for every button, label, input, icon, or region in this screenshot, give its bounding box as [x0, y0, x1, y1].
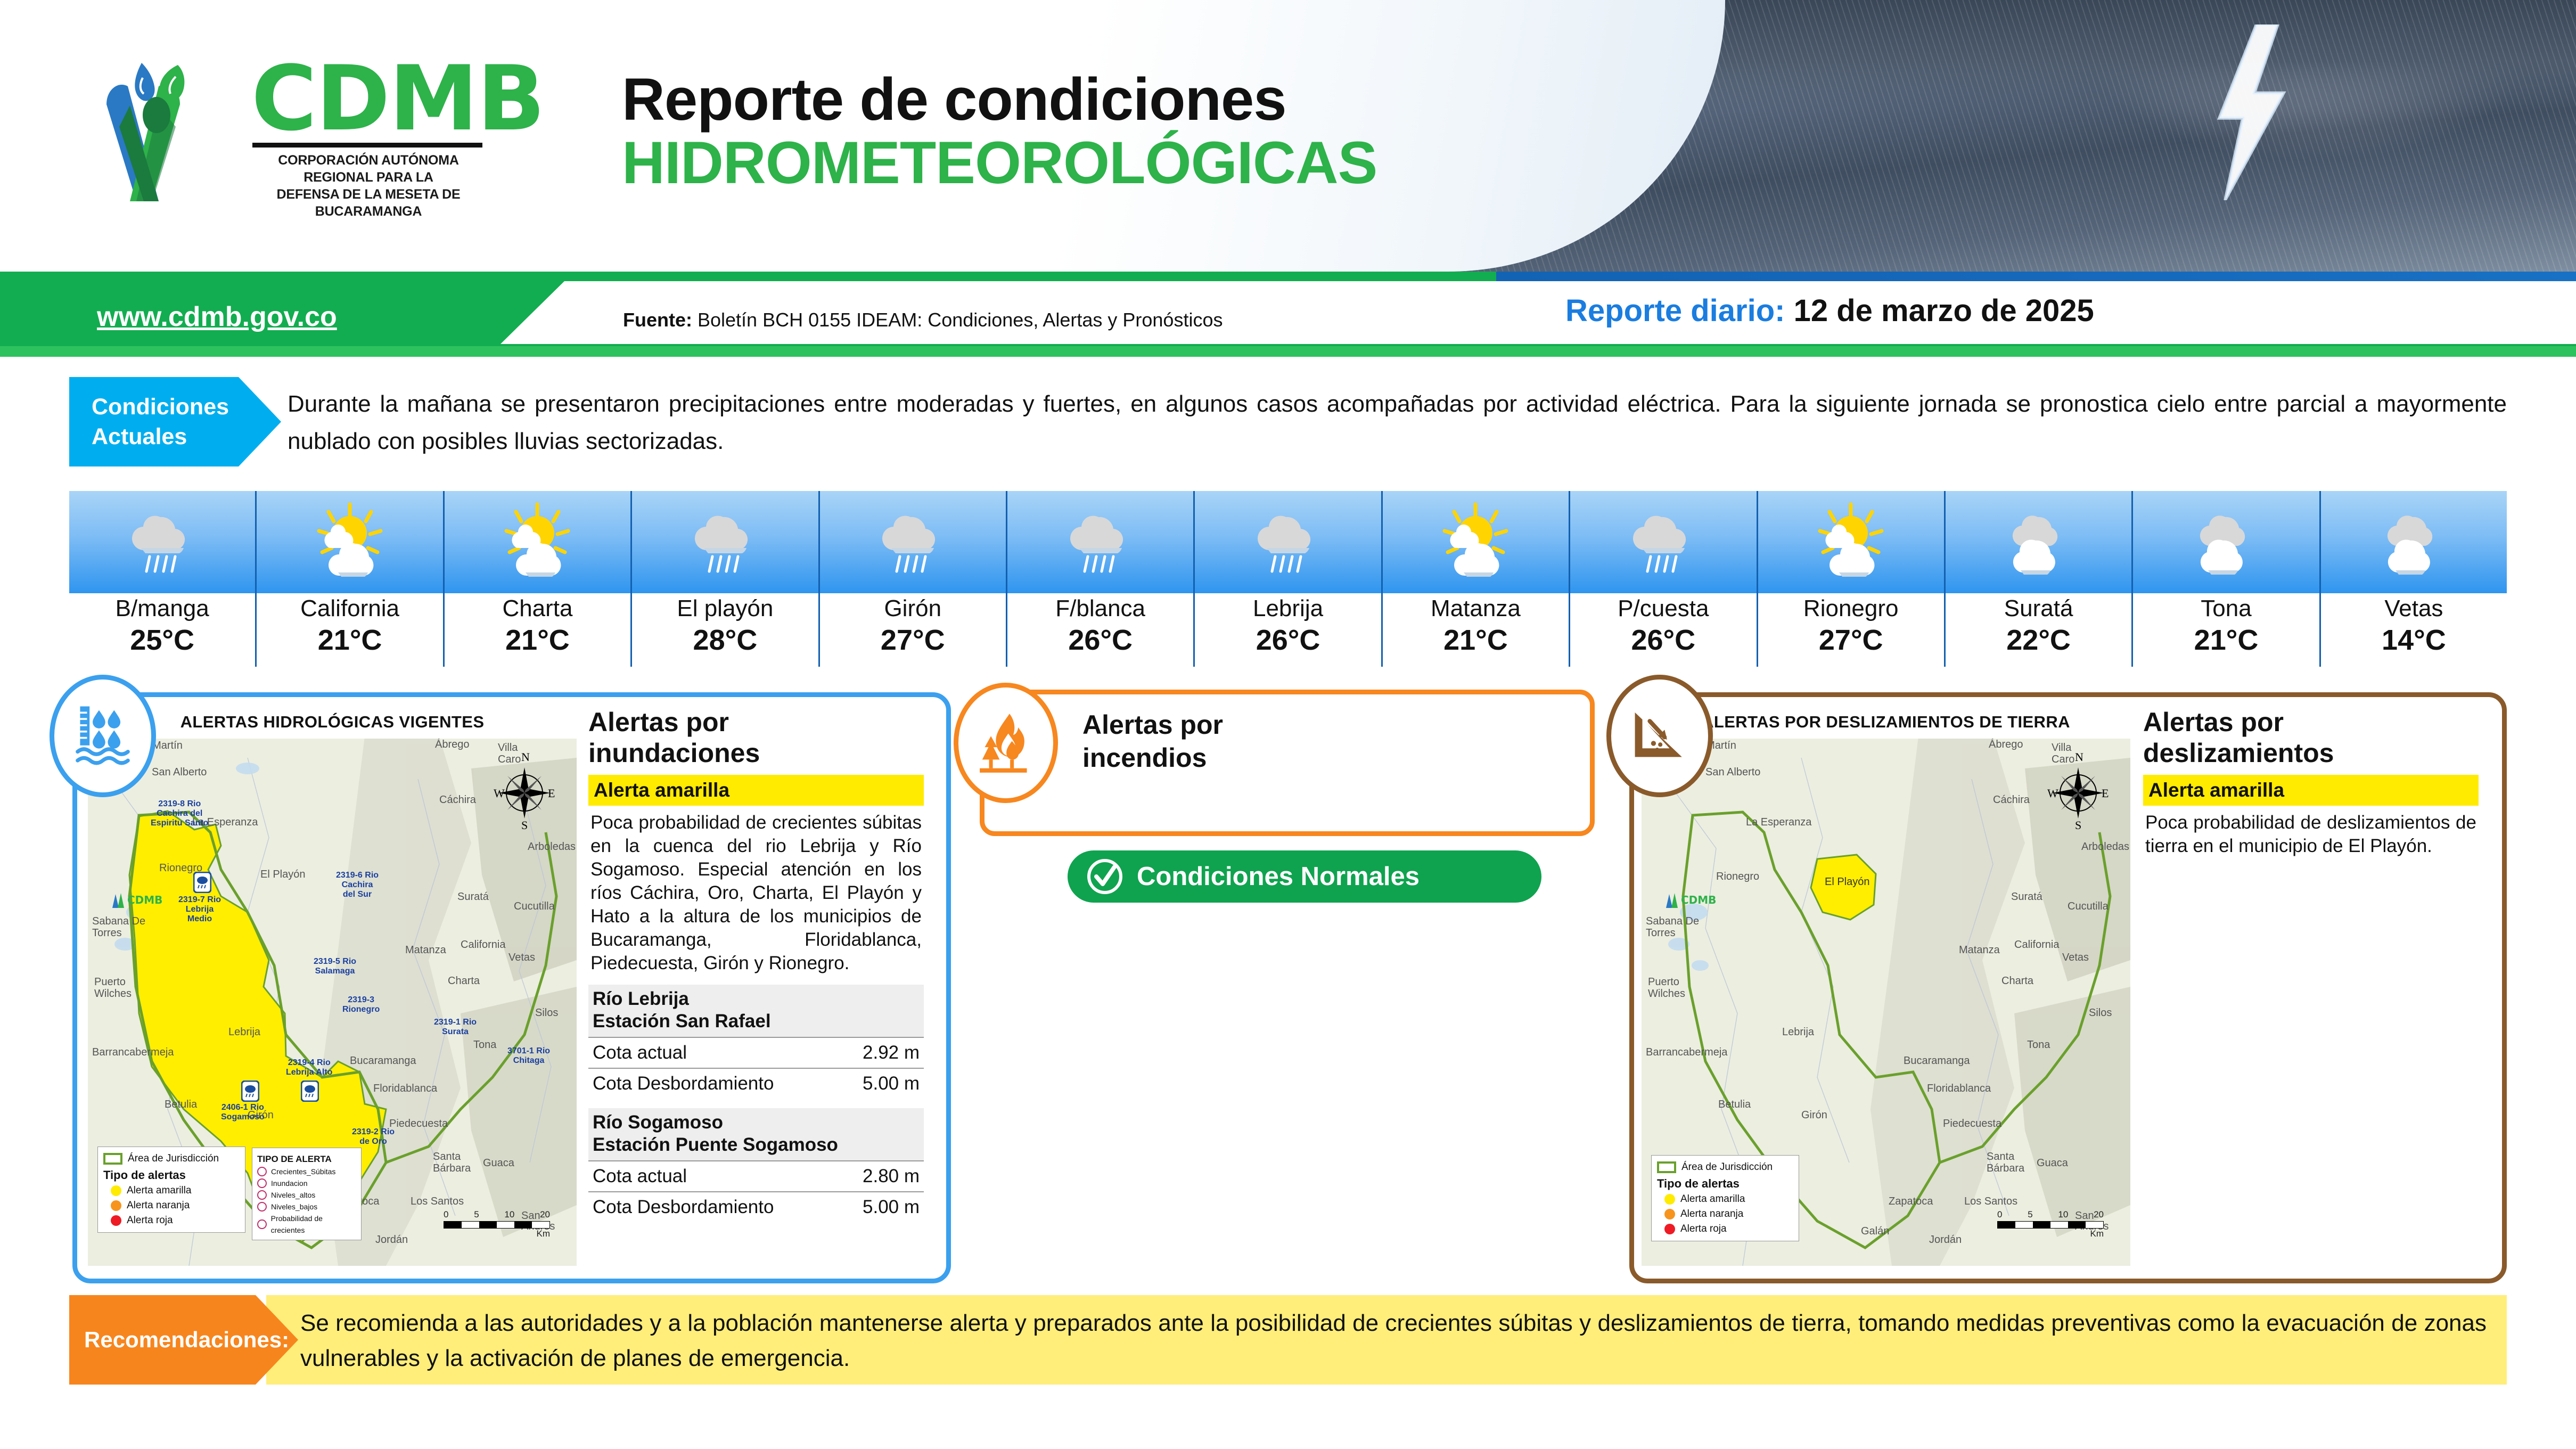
forecast-city-name: B/manga — [69, 594, 255, 623]
flood-alerts-panel: ALERTAS HIDROLÓGICAS VIGENTES — [72, 692, 951, 1283]
svg-text:CDMB: CDMB — [127, 894, 162, 906]
legend2-item: Crecientes_Súbitas — [271, 1166, 335, 1177]
map-label-place: Barrancabermeja — [92, 1046, 174, 1059]
forecast-city-cell: Vetas 14°C — [2321, 491, 2507, 667]
forecast-city-cell: P/cuesta 26°C — [1570, 491, 1758, 667]
current-conditions-tag: Condiciones Actuales — [69, 377, 281, 466]
forecast-sky — [1383, 491, 1569, 593]
legend2-item: Inundacion — [271, 1177, 308, 1189]
map-label-place: Charta — [448, 975, 480, 987]
rain-station-marker-icon — [241, 1080, 259, 1102]
current-conditions-tag-line2: Actuales — [92, 422, 281, 452]
map-label-place: SantaBárbara — [433, 1151, 471, 1174]
map-label-place: Matanza — [405, 944, 446, 956]
forecast-city-name: Charta — [445, 594, 630, 623]
station-row: Cota actual 2.80 m — [588, 1160, 924, 1191]
forecast-city-cell: California 21°C — [257, 491, 444, 667]
forecast-temperature: 21°C — [1383, 623, 1569, 657]
forecast-city-name: Matanza — [1383, 594, 1569, 623]
forecast-sky — [445, 491, 630, 593]
report-date-label: Reporte diario: — [1565, 293, 1785, 328]
forecast-label: Lebrija 26°C — [1195, 593, 1381, 667]
map-label-place: SantaBárbara — [1987, 1151, 2024, 1174]
cdmb-map-watermark-icon: CDMB — [1663, 889, 1720, 911]
legend-type-label: Alerta roja — [127, 1213, 173, 1228]
landslide-map-legend: Área de Jurisdicción Tipo de alertas Ale… — [1651, 1155, 1799, 1241]
forecast-city-cell: Matanza 21°C — [1383, 491, 1570, 667]
forest-fire-icon — [974, 709, 1037, 777]
map-label-place: Arboledas — [2081, 841, 2129, 853]
fire-alert-title-line1: Alertas por — [1082, 708, 1223, 741]
station-row-value: 2.92 m — [863, 1038, 920, 1068]
scale-tick: 0 — [1997, 1209, 2002, 1220]
forecast-city-cell: B/manga 25°C — [69, 491, 257, 667]
current-conditions-section: Condiciones Actuales Durante la mañana s… — [69, 377, 2507, 466]
forecast-label: P/cuesta 26°C — [1570, 593, 1756, 667]
forecast-city-cell: Suratá 22°C — [1946, 491, 2133, 667]
map-label-river: 2319-7 RioLebrijaMedio — [178, 895, 221, 924]
map-label-place: Zapatoca — [1889, 1196, 1933, 1208]
recommendations-text: Se recomienda a las autoridades y a la p… — [300, 1306, 2487, 1376]
forecast-city-name: California — [257, 594, 442, 623]
forecast-sky — [2321, 491, 2507, 593]
alert-type-icon — [257, 1219, 267, 1229]
legend-dot-red — [111, 1215, 121, 1226]
landslide-alert-title: Alertas por deslizamientos — [2143, 707, 2479, 768]
flood-badge — [50, 675, 156, 797]
source-label: Fuente: — [623, 309, 692, 331]
svg-text:N: N — [521, 751, 530, 764]
map-label-place: Guaca — [2037, 1157, 2068, 1169]
landslide-alert-level-badge: Alerta amarilla — [2143, 775, 2479, 806]
forecast-temperature: 27°C — [1758, 623, 1944, 657]
map-label-place: Piedecuesta — [389, 1118, 448, 1130]
svg-text:S: S — [2075, 818, 2081, 831]
logo-wordmark: CDMB CORPORACIÓN AUTÓNOMA REGIONAL PARA … — [251, 59, 544, 220]
legend-dot-yellow — [111, 1185, 121, 1196]
report-date-block: Reporte diario: 12 de marzo de 2025 — [1565, 293, 2094, 329]
map-label-place: Girón — [1801, 1109, 1827, 1121]
landslide-alerts-panel: ALERTAS POR DESLIZAMIENTOS DE TIERRA — [1629, 692, 2507, 1283]
forecast-city-cell: Girón 27°C — [820, 491, 1007, 667]
legend-jurisdiction-label: Área de Jurisdicción — [1681, 1160, 1773, 1175]
map-label-place: Silos — [535, 1007, 558, 1019]
alert-type-icon — [257, 1167, 267, 1176]
station-name: Estación San Rafael — [593, 1010, 920, 1033]
forecast-temperature: 26°C — [1195, 623, 1381, 657]
forecast-city-name: Lebrija — [1195, 594, 1381, 623]
jurisdiction-swatch — [1657, 1161, 1676, 1173]
scale-tick: 10 — [2058, 1209, 2068, 1220]
forecast-city-cell: Tona 21°C — [2133, 491, 2320, 667]
map-label-place: Arboledas — [528, 841, 576, 853]
cdmb-logo-icon — [79, 47, 244, 207]
report-date-value: 12 de marzo de 2025 — [1785, 293, 2094, 328]
flood-alert-level-badge: Alerta amarilla — [588, 775, 924, 806]
compass-rose-icon: N S W E — [2046, 751, 2110, 831]
forecast-label: El playón 28°C — [632, 593, 818, 667]
legend-type-label: Alerta amarilla — [1680, 1192, 1745, 1207]
forecast-sky — [69, 491, 255, 593]
map-label-place: El Playón — [260, 869, 306, 881]
forecast-temperature: 21°C — [257, 623, 442, 657]
flood-map-canvas: San Martín San Alberto Ábrego VillaCaro … — [88, 736, 577, 1266]
forecast-temperature: 26°C — [1007, 623, 1193, 657]
cloud-icon — [2184, 502, 2269, 582]
scale-tick: 5 — [474, 1209, 479, 1220]
landslide-alert-description: Poca probabilidad de deslizamientos de t… — [2143, 806, 2479, 858]
title-line-1: Reporte de condiciones — [622, 68, 1377, 131]
alert-type-icon — [257, 1202, 267, 1211]
landslide-badge — [1606, 675, 1713, 797]
map-label-place: Floridablanca — [1927, 1083, 1991, 1095]
map-label-place: Lebrija — [1782, 1026, 1814, 1038]
forecast-temperature: 22°C — [1946, 623, 2131, 657]
map-label-place: Matanza — [1959, 944, 2000, 956]
map-label-place: Vetas — [508, 952, 535, 964]
map-label-place: Ábrego — [1989, 739, 2023, 751]
flood-map-legend: Área de Jurisdicción Tipo de alertas Ale… — [97, 1147, 245, 1233]
flood-alert-text-column: Alertas por inundaciones Alerta amarilla… — [588, 707, 924, 1222]
forecast-label: Rionegro 27°C — [1758, 593, 1944, 667]
map-label-place: Rionegro — [1716, 871, 1759, 883]
rain-station-marker-icon — [301, 1080, 319, 1102]
map-label-place: Sabana DeTorres — [1646, 915, 1699, 939]
map-label-place: Jordán — [1929, 1234, 1962, 1246]
flood-alert-description: Poca probabilidad de crecientes súbitas … — [588, 806, 924, 975]
map-label-place: La Esperanza — [1746, 816, 1811, 829]
flood-map-title: ALERTAS HIDROLÓGICAS VIGENTES — [88, 706, 577, 739]
map-label-place: San Alberto — [1705, 766, 1760, 779]
station-header: Río Lebrija Estación San Rafael — [588, 985, 924, 1037]
map-label-place: Charta — [2001, 975, 2033, 987]
forecast-sky — [1570, 491, 1756, 593]
landslide-map-title: ALERTAS POR DESLIZAMIENTOS DE TIERRA — [1642, 706, 2130, 739]
forecast-temperature: 26°C — [1570, 623, 1756, 657]
fire-badge — [954, 683, 1058, 803]
cdmb-map-watermark-icon: CDMB — [109, 889, 167, 911]
station-row: Cota Desbordamiento 5.00 m — [588, 1068, 924, 1099]
map-label-river: 2319-2 Riode Oro — [352, 1127, 395, 1147]
station-header: Río Sogamoso Estación Puente Sogamoso — [588, 1108, 924, 1160]
forecast-label: California 21°C — [257, 593, 442, 667]
map-label-river: 2406-1 RioSogamoso — [221, 1103, 265, 1122]
flood-map-scalebar: 0 5 10 20 Km — [444, 1209, 550, 1239]
website-link[interactable]: www.cdmb.gov.co — [97, 301, 337, 333]
station-row: Cota actual 2.92 m — [588, 1037, 924, 1068]
landslide-alerts-map[interactable]: ALERTAS POR DESLIZAMIENTOS DE TIERRA — [1642, 706, 2130, 1266]
svg-text:E: E — [548, 787, 555, 800]
forecast-label: Matanza 21°C — [1383, 593, 1569, 667]
forecast-temperature: 27°C — [820, 623, 1006, 657]
legend-dot-yellow — [1664, 1194, 1675, 1205]
map-label-place: Cucutilla — [514, 900, 555, 913]
map-label-place: Barrancabermeja — [1646, 1046, 1727, 1059]
forecast-label: F/blanca 26°C — [1007, 593, 1193, 667]
current-conditions-text: Durante la mañana se presentaron precipi… — [288, 382, 2507, 462]
map-label-river: 2319-1 RioSurata — [434, 1018, 477, 1037]
scale-tick: 20 — [2094, 1209, 2104, 1220]
scale-unit: Km — [1997, 1229, 2104, 1239]
map-label-place: Floridablanca — [373, 1083, 437, 1095]
legend2-item: Niveles_bajos — [271, 1201, 317, 1213]
flood-alert-title-line1: Alertas por — [588, 707, 924, 738]
landslide-alert-title-line1: Alertas por — [2143, 707, 2479, 738]
map-label-place: Cucutilla — [2068, 900, 2109, 913]
map-label-place: Bucaramanga — [1904, 1055, 1970, 1067]
forecast-strip: B/manga 25°C California 21°C — [69, 491, 2507, 667]
station-river-name: Río Lebrija — [593, 988, 920, 1010]
forecast-city-cell: Lebrija 26°C — [1195, 491, 1382, 667]
scale-tick: 20 — [540, 1209, 550, 1220]
station-name: Estación Puente Sogamoso — [593, 1134, 920, 1156]
recommendations-tag: Recomendaciones: — [69, 1295, 298, 1385]
station-row-value: 2.80 m — [863, 1161, 920, 1191]
map-label-place: Suratá — [2011, 891, 2042, 903]
forecast-city-name: Girón — [820, 594, 1006, 623]
sun-cloud-icon — [307, 502, 392, 582]
landslide-alert-title-line2: deslizamientos — [2143, 738, 2479, 768]
alert-type-icon — [257, 1178, 267, 1188]
map-label-place: California — [461, 939, 505, 951]
map-label-place: Cáchira — [1993, 794, 2030, 806]
current-conditions-tag-line1: Condiciones — [92, 392, 281, 422]
map-label-place: Betulia — [165, 1099, 197, 1111]
source-note: Fuente: Boletín BCH 0155 IDEAM: Condicio… — [623, 309, 1223, 331]
landslide-map-scalebar: 0 5 10 20 Km — [1997, 1209, 2104, 1239]
map-label-place: Tona — [2027, 1039, 2050, 1051]
compass-rose-icon: N S W E — [493, 751, 556, 831]
sun-cloud-icon — [1808, 502, 1893, 582]
map-label-place: Betulia — [1718, 1099, 1751, 1111]
forecast-sky — [1946, 491, 2131, 593]
map-label-river: 2319-6 RioCachiradel Sur — [336, 871, 379, 899]
landslide-alert-text-column: Alertas por deslizamientos Alerta amaril… — [2143, 707, 2479, 858]
forecast-temperature: 14°C — [2321, 623, 2507, 657]
cloud-icon — [1996, 502, 2081, 582]
map-label-place: Ábrego — [435, 739, 470, 751]
forecast-city-name: Rionegro — [1758, 594, 1944, 623]
fire-alerts-panel: Alertas por incendios Condiciones Normal… — [980, 690, 1595, 836]
forecast-temperature: 28°C — [632, 623, 818, 657]
page-title: Reporte de condiciones HIDROMETEOROLÓGIC… — [622, 68, 1377, 195]
water-level-gauge-icon — [71, 701, 135, 771]
legend-types-header: Tipo de alertas — [103, 1168, 240, 1182]
map-label-place: Vetas — [2062, 952, 2089, 964]
rain-cloud-icon — [120, 502, 205, 582]
forecast-temperature: 21°C — [445, 623, 630, 657]
map-label-river: 3701-1 RioChitaga — [507, 1046, 550, 1066]
ribbon-bottom-line — [0, 346, 2576, 357]
forecast-city-cell: Rionegro 27°C — [1758, 491, 1946, 667]
map-label-place: California — [2014, 939, 2059, 951]
rain-cloud-icon — [683, 502, 768, 582]
scale-tick: 5 — [2028, 1209, 2032, 1220]
rain-cloud-icon — [1245, 502, 1331, 582]
map-label-place: Piedecuesta — [1943, 1118, 2001, 1130]
logo-subtitle-line2: DEFENSA DE LA MESETA DE BUCARAMANGA — [251, 186, 486, 220]
forecast-label: Vetas 14°C — [2321, 593, 2507, 667]
map-label-place: Guaca — [483, 1157, 514, 1169]
forecast-sky — [1195, 491, 1381, 593]
map-label-place: Silos — [2089, 1007, 2112, 1019]
landslide-map-canvas: San Martín San Alberto Ábrego VillaCaro … — [1642, 736, 2130, 1266]
forecast-city-name: Tona — [2133, 594, 2319, 623]
forecast-city-name: Suratá — [1946, 594, 2131, 623]
forecast-label: Suratá 22°C — [1946, 593, 2131, 667]
station-block-lebrija: Río Lebrija Estación San Rafael Cota act… — [588, 985, 924, 1099]
legend-dot-orange — [1664, 1209, 1675, 1219]
legend2-header: TIPO DE ALERTA — [257, 1154, 356, 1165]
map-label-river: 2319-4 RioLebrija Alto — [286, 1058, 332, 1077]
sun-cloud-icon — [495, 502, 580, 582]
map-label-river: 2319-3Rionegro — [342, 995, 380, 1014]
forecast-city-cell: Charta 21°C — [445, 491, 632, 667]
forecast-temperature: 21°C — [2133, 623, 2319, 657]
station-row-label: Cota actual — [593, 1161, 687, 1191]
map-label-place: Bucaramanga — [350, 1055, 416, 1067]
map-label-place: Suratá — [457, 891, 489, 903]
rain-cloud-icon — [1621, 502, 1706, 582]
forecast-city-name: P/cuesta — [1570, 594, 1756, 623]
legend-dot-red — [1664, 1224, 1675, 1234]
forecast-temperature: 25°C — [69, 623, 255, 657]
map-label-place: Lebrija — [228, 1026, 260, 1038]
page-header: CDMB CORPORACIÓN AUTÓNOMA REGIONAL PARA … — [0, 0, 2576, 272]
map-label-place: Tona — [473, 1039, 496, 1051]
map-label-place: Jordán — [375, 1234, 408, 1246]
forecast-city-name: Vetas — [2321, 594, 2507, 623]
flood-alert-title-line2: inundaciones — [588, 738, 924, 768]
jurisdiction-swatch — [103, 1153, 122, 1165]
forecast-sky — [1007, 491, 1193, 593]
rain-station-marker-icon — [193, 872, 211, 893]
hydrological-alerts-map[interactable]: ALERTAS HIDROLÓGICAS VIGENTES — [88, 706, 577, 1266]
flood-alert-title: Alertas por inundaciones — [588, 707, 924, 768]
legend-dot-orange — [111, 1200, 121, 1211]
map-label-place: San Alberto — [152, 766, 207, 779]
svg-text:CDMB: CDMB — [1681, 894, 1716, 906]
rain-cloud-icon — [870, 502, 955, 582]
legend-jurisdiction-label: Área de Jurisdicción — [128, 1151, 219, 1166]
legend-types-header: Tipo de alertas — [1657, 1177, 1793, 1191]
forecast-sky — [2133, 491, 2319, 593]
forecast-sky — [1758, 491, 1944, 593]
svg-text:N: N — [2075, 751, 2083, 764]
station-row-value: 5.00 m — [863, 1069, 920, 1099]
forecast-label: Girón 27°C — [820, 593, 1006, 667]
fire-alert-title-line2: incendios — [1082, 741, 1223, 774]
legend-type-label: Alerta naranja — [1680, 1207, 1743, 1222]
forecast-sky — [632, 491, 818, 593]
alert-type-icon — [257, 1190, 267, 1200]
legend2-item: Probabilidad de crecientes — [271, 1213, 356, 1236]
legend-type-label: Alerta amarilla — [127, 1183, 191, 1198]
recommendations-body: Se recomienda a las autoridades y a la p… — [266, 1295, 2507, 1385]
fire-status-text: Condiciones Normales — [1137, 862, 1420, 891]
forecast-sky — [820, 491, 1006, 593]
station-row-label: Cota actual — [593, 1038, 687, 1068]
fire-alert-title: Alertas por incendios — [1082, 708, 1223, 774]
forecast-city-name: El playón — [632, 594, 818, 623]
map-label-place: Cáchira — [439, 794, 476, 806]
map-label-river: 2319-5 RioSalamaga — [314, 957, 356, 976]
map-label-place: PuertoWilches — [1648, 976, 1685, 1000]
scale-tick: 0 — [444, 1209, 448, 1220]
check-circle-icon — [1085, 856, 1125, 897]
map-label-place: Los Santos — [411, 1196, 464, 1208]
logo-subtitle-line1: CORPORACIÓN AUTÓNOMA REGIONAL PARA LA — [251, 152, 486, 186]
legend-type-label: Alerta naranja — [127, 1198, 190, 1213]
station-row-label: Cota Desbordamiento — [593, 1069, 774, 1099]
station-row: Cota Desbordamiento 5.00 m — [588, 1191, 924, 1222]
map-label-el-playon: El Playón — [1825, 876, 1870, 888]
map-label-place: Sabana DeTorres — [92, 915, 145, 939]
sun-cloud-icon — [1433, 502, 1518, 582]
map-label-river: 2319-8 RioCachira delEspiritu Santo — [151, 799, 208, 828]
title-line-2: HIDROMETEOROLÓGICAS — [622, 131, 1377, 195]
map-label-place: Los Santos — [1964, 1196, 2017, 1208]
cloud-icon — [2371, 502, 2456, 582]
legend-type-label: Alerta roja — [1680, 1222, 1727, 1237]
station-row-value: 5.00 m — [863, 1192, 920, 1222]
forecast-city-name: F/blanca — [1007, 594, 1193, 623]
forecast-label: Tona 21°C — [2133, 593, 2319, 667]
legend2-item: Niveles_altos — [271, 1189, 315, 1201]
forecast-label: B/manga 25°C — [69, 593, 255, 667]
source-text: Boletín BCH 0155 IDEAM: Condiciones, Ale… — [692, 309, 1223, 331]
flood-map-alert-type-legend: TIPO DE ALERTA Crecientes_Súbitas Inunda… — [252, 1148, 362, 1240]
station-river-name: Río Sogamoso — [593, 1111, 920, 1134]
landslide-icon — [1629, 705, 1691, 767]
station-block-sogamoso: Río Sogamoso Estación Puente Sogamoso Co… — [588, 1108, 924, 1222]
recommendations-section: Se recomienda a las autoridades y a la p… — [69, 1295, 2507, 1385]
station-row-label: Cota Desbordamiento — [593, 1192, 774, 1222]
lightning-bolt-icon — [2198, 24, 2299, 200]
svg-text:E: E — [2102, 787, 2109, 800]
svg-text:S: S — [521, 818, 528, 831]
forecast-city-cell: El playón 28°C — [632, 491, 819, 667]
forecast-sky — [257, 491, 442, 593]
scale-unit: Km — [444, 1229, 550, 1239]
fire-status-badge: Condiciones Normales — [1068, 850, 1541, 903]
rain-cloud-icon — [1058, 502, 1143, 582]
scale-tick: 10 — [504, 1209, 514, 1220]
logo-acronym: CDMB — [251, 59, 544, 138]
map-label-place: PuertoWilches — [94, 976, 132, 1000]
forecast-label: Charta 21°C — [445, 593, 630, 667]
forecast-city-cell: F/blanca 26°C — [1007, 491, 1195, 667]
map-label-place: Galán — [1861, 1225, 1889, 1238]
